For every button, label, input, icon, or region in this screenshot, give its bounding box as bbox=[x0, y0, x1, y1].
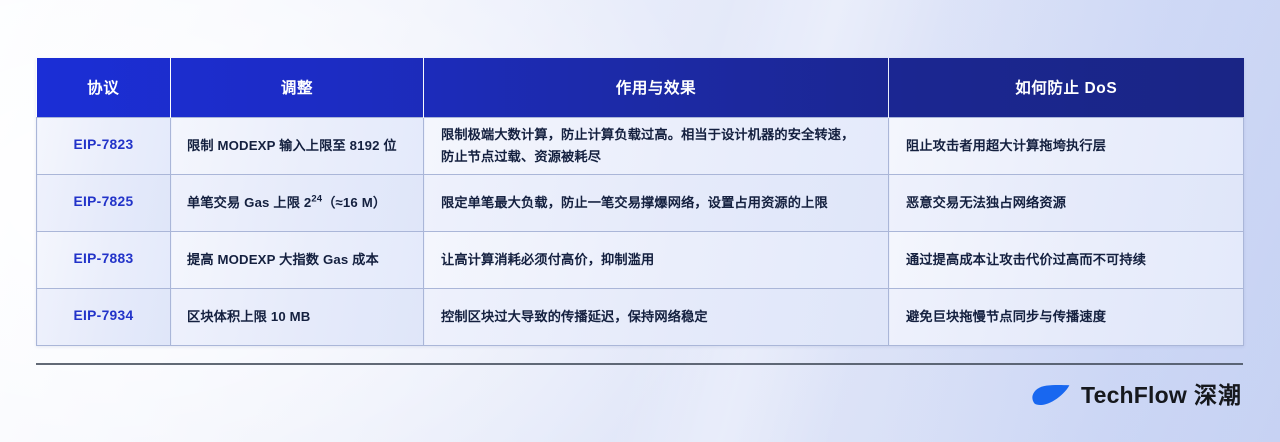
column-header-effect: 作用与效果 bbox=[424, 58, 889, 117]
footer-divider bbox=[36, 363, 1243, 365]
cell-adjustment: 限制 MODEXP 输入上限至 8192 位 bbox=[171, 117, 424, 174]
adjustment-text: 单笔交易 Gas 上限 2 bbox=[187, 195, 311, 210]
column-header-adjustment: 调整 bbox=[171, 58, 424, 117]
brand-text-wrapper: TechFlow深潮 bbox=[1081, 384, 1242, 407]
table-row: EIP-7825 单笔交易 Gas 上限 224（≈16 M） 限定单笔最大负载… bbox=[37, 174, 1244, 231]
effect-line-1: 限定单笔最大负载，防止一笔交易撑爆网络，设置占用资源的上限 bbox=[441, 192, 872, 213]
cell-protocol: EIP-7883 bbox=[37, 231, 171, 288]
slide-canvas: 协议 调整 作用与效果 如何防止 DoS EIP-7823 限制 MODEXP … bbox=[0, 0, 1280, 442]
table-row: EIP-7934 区块体积上限 10 MB 控制区块过大导致的传播延迟，保持网络… bbox=[37, 288, 1244, 345]
brand-name-en: TechFlow bbox=[1081, 382, 1187, 408]
effect-line-1: 限制极端大数计算，防止计算负载过高。相当于设计机器的安全转速， bbox=[441, 124, 872, 145]
cell-adjustment: 单笔交易 Gas 上限 224（≈16 M） bbox=[171, 174, 424, 231]
column-header-protocol: 协议 bbox=[37, 58, 171, 117]
cell-adjustment: 区块体积上限 10 MB bbox=[171, 288, 424, 345]
column-header-dos: 如何防止 DoS bbox=[889, 58, 1244, 117]
cell-dos: 通过提高成本让攻击代价过高而不可持续 bbox=[889, 231, 1244, 288]
cell-dos: 恶意交易无法独占网络资源 bbox=[889, 174, 1244, 231]
cell-effect: 限定单笔最大负载，防止一笔交易撑爆网络，设置占用资源的上限 bbox=[424, 174, 889, 231]
cell-protocol: EIP-7823 bbox=[37, 117, 171, 174]
adjustment-suffix: （≈16 M） bbox=[322, 195, 386, 210]
table-header-row: 协议 调整 作用与效果 如何防止 DoS bbox=[37, 58, 1244, 117]
techflow-leaf-icon bbox=[1032, 384, 1070, 406]
adjustment-text: 限制 MODEXP 输入上限至 8192 位 bbox=[187, 138, 397, 153]
cell-protocol: EIP-7934 bbox=[37, 288, 171, 345]
adjustment-exponent: 24 bbox=[311, 193, 322, 204]
cell-dos: 阻止攻击者用超大计算拖垮执行层 bbox=[889, 117, 1244, 174]
brand-logo: TechFlow深潮 bbox=[1032, 378, 1242, 412]
effect-line-2: 防止节点过载、资源被耗尽 bbox=[441, 146, 872, 167]
effect-line-1: 让高计算消耗必须付高价，抑制滥用 bbox=[441, 249, 872, 270]
cell-dos: 避免巨块拖慢节点同步与传播速度 bbox=[889, 288, 1244, 345]
table-body: EIP-7823 限制 MODEXP 输入上限至 8192 位 限制极端大数计算… bbox=[37, 117, 1244, 345]
eip-comparison-table: 协议 调整 作用与效果 如何防止 DoS EIP-7823 限制 MODEXP … bbox=[36, 58, 1244, 346]
cell-protocol: EIP-7825 bbox=[37, 174, 171, 231]
cell-effect: 控制区块过大导致的传播延迟，保持网络稳定 bbox=[424, 288, 889, 345]
table-header: 协议 调整 作用与效果 如何防止 DoS bbox=[37, 58, 1244, 117]
eip-table-container: 协议 调整 作用与效果 如何防止 DoS EIP-7823 限制 MODEXP … bbox=[36, 58, 1243, 346]
adjustment-text: 区块体积上限 10 MB bbox=[187, 309, 310, 324]
cell-effect: 限制极端大数计算，防止计算负载过高。相当于设计机器的安全转速，防止节点过载、资源… bbox=[424, 117, 889, 174]
brand-name-cn: 深潮 bbox=[1194, 382, 1242, 408]
cell-effect: 让高计算消耗必须付高价，抑制滥用 bbox=[424, 231, 889, 288]
cell-adjustment: 提高 MODEXP 大指数 Gas 成本 bbox=[171, 231, 424, 288]
table-row: EIP-7823 限制 MODEXP 输入上限至 8192 位 限制极端大数计算… bbox=[37, 117, 1244, 174]
adjustment-text: 提高 MODEXP 大指数 Gas 成本 bbox=[187, 252, 379, 267]
table-row: EIP-7883 提高 MODEXP 大指数 Gas 成本 让高计算消耗必须付高… bbox=[37, 231, 1244, 288]
effect-line-1: 控制区块过大导致的传播延迟，保持网络稳定 bbox=[441, 306, 872, 327]
